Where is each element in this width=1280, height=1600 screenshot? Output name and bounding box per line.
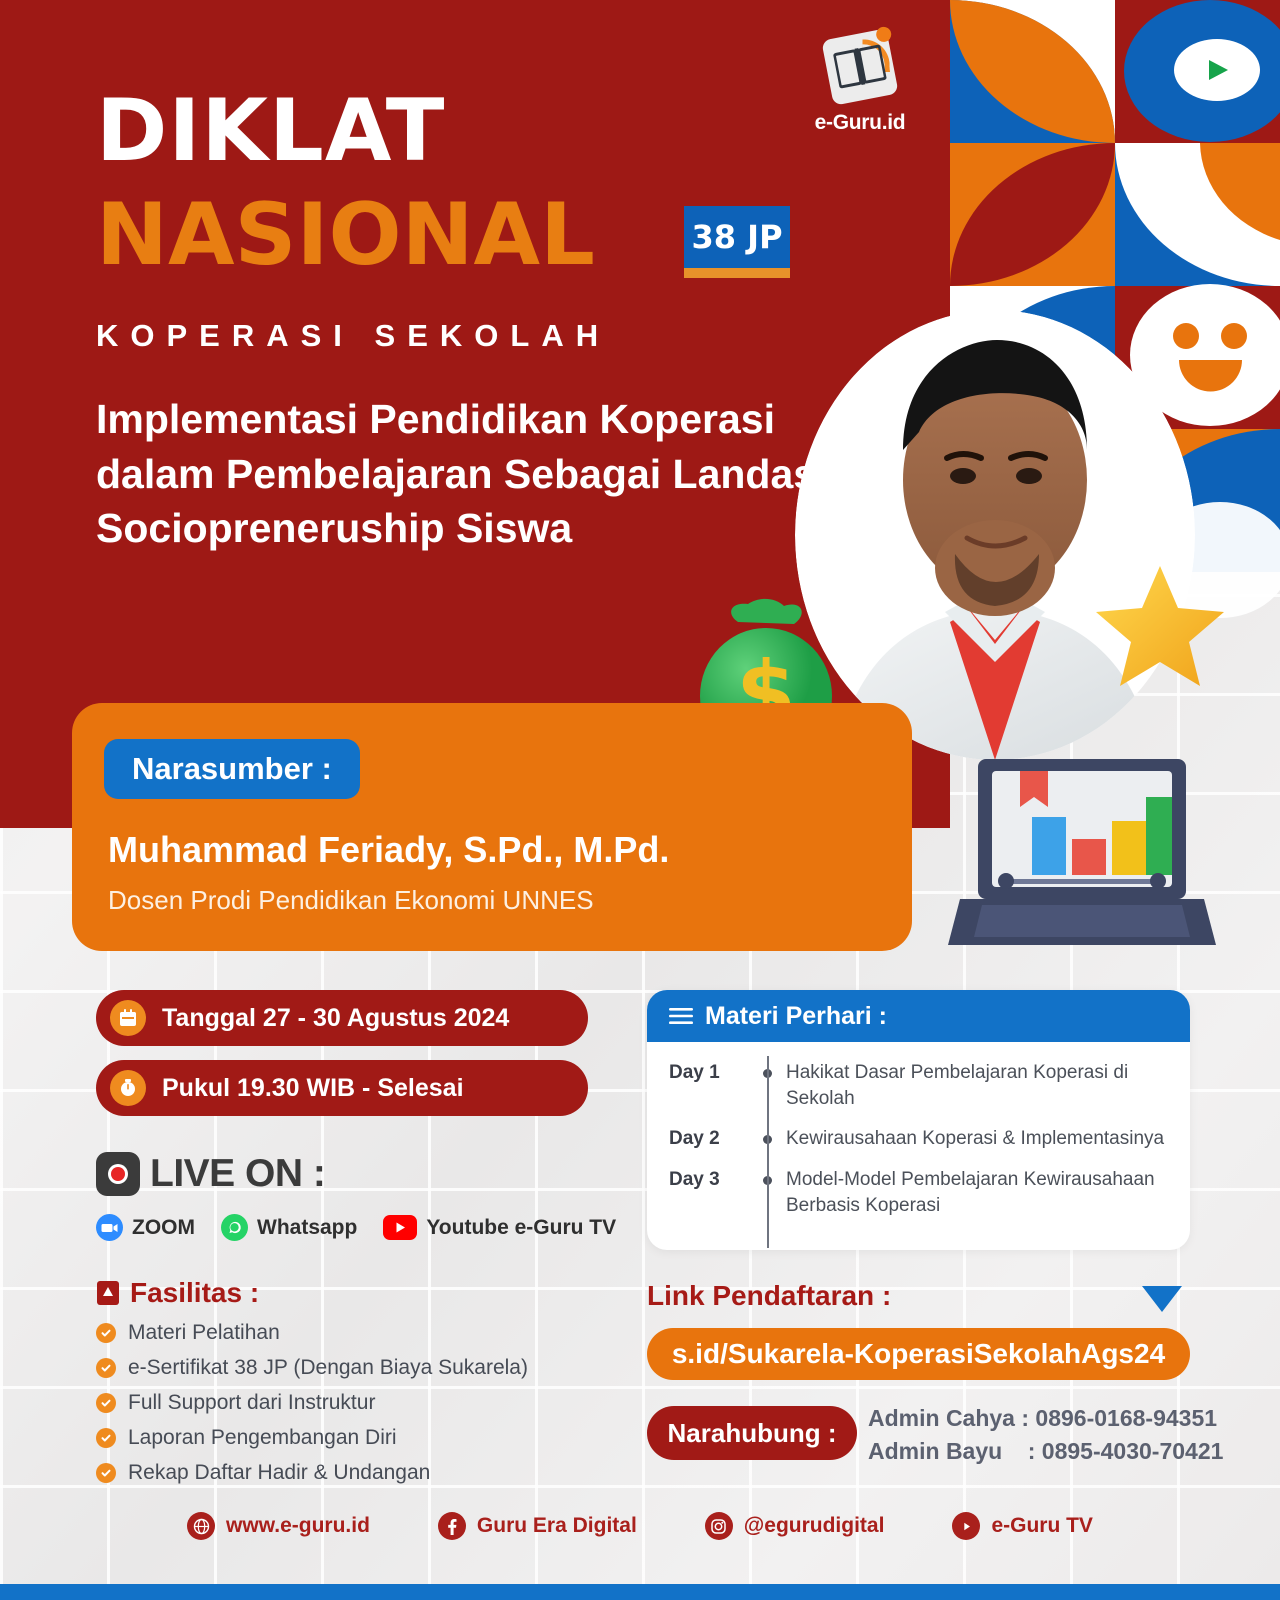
- contact-pill: Narahubung :: [647, 1406, 857, 1460]
- check-icon: [96, 1358, 116, 1378]
- telegram-icon: [1140, 1282, 1184, 1316]
- poster-canvas: e-Guru.id DIKLAT NASIONAL 38 JP KOPERASI…: [0, 0, 1280, 1600]
- bookmark-icon: [96, 1280, 120, 1306]
- day-text: Kewirausahaan Koperasi & Implementasinya: [786, 1126, 1164, 1152]
- facilities-list: Materi Pelatihan e-Sertifikat 38 JP (Den…: [96, 1318, 528, 1493]
- whatsapp-icon: [221, 1214, 248, 1241]
- presenter-name: Muhammad Feriady, S.Pd., M.Pd.: [108, 829, 669, 871]
- day-text: Model-Model Pembelajaran Kewirausahaan B…: [786, 1167, 1172, 1219]
- materi-body: Day 1 Hakikat Dasar Pembelajaran Koperas…: [647, 1042, 1190, 1219]
- facility-text: Laporan Pengembangan Diri: [128, 1426, 397, 1450]
- narasumber-pill: Narasumber :: [104, 739, 360, 799]
- footer-website[interactable]: www.e-guru.id: [187, 1512, 370, 1540]
- materi-header: Materi Perhari :: [647, 990, 1190, 1042]
- materi-day-row: Day 2 Kewirausahaan Koperasi & Implement…: [669, 1126, 1172, 1152]
- check-icon: [96, 1428, 116, 1448]
- materi-day-row: Day 3 Model-Model Pembelajaran Kewirausa…: [669, 1167, 1172, 1219]
- footer-social-bar: www.e-guru.id Guru Era Digital @egurudig…: [0, 1498, 1280, 1554]
- time-text: Pukul 19.30 WIB - Selesai: [162, 1074, 464, 1103]
- jp-badge: 38 JP: [684, 206, 790, 268]
- speaker-portrait: [795, 310, 1195, 760]
- channel-label: Whatsapp: [257, 1216, 357, 1240]
- day-label: Day 1: [669, 1060, 751, 1084]
- footer-facebook[interactable]: Guru Era Digital: [438, 1512, 637, 1540]
- time-pill: Pukul 19.30 WIB - Selesai: [96, 1060, 588, 1116]
- check-icon: [96, 1393, 116, 1413]
- brand-logo: e-Guru.id: [800, 34, 920, 154]
- check-icon: [96, 1323, 116, 1343]
- check-icon: [96, 1463, 116, 1483]
- youtube-icon: [383, 1215, 417, 1240]
- facebook-icon: [438, 1512, 466, 1540]
- instagram-icon: [705, 1512, 733, 1540]
- footer-label: @egurudigital: [744, 1514, 885, 1538]
- materi-title: Materi Perhari :: [705, 1002, 887, 1031]
- materi-day-row: Day 1 Hakikat Dasar Pembelajaran Koperas…: [669, 1060, 1172, 1112]
- footer-youtube[interactable]: e-Guru TV: [952, 1512, 1093, 1540]
- footer-label: Guru Era Digital: [477, 1514, 637, 1538]
- bottom-accent-bar: [0, 1584, 1280, 1600]
- facility-item: Laporan Pengembangan Diri: [96, 1423, 528, 1453]
- title-kicker: KOPERASI SEKOLAH: [96, 318, 610, 354]
- facility-text: e-Sertifikat 38 JP (Dengan Biaya Sukarel…: [128, 1356, 528, 1380]
- channel-label: ZOOM: [132, 1216, 195, 1240]
- materi-card: Materi Perhari : Day 1 Hakikat Dasar Pem…: [647, 990, 1190, 1250]
- title-subtitle: Implementasi Pendidikan Koperasi dalam P…: [96, 392, 886, 556]
- date-text: Tanggal 27 - 30 Agustus 2024: [162, 1004, 509, 1033]
- record-icon: [96, 1152, 140, 1196]
- timeline-line: [767, 1056, 769, 1248]
- open-book-icon: [821, 28, 898, 105]
- day-label: Day 2: [669, 1126, 751, 1150]
- presenter-role: Dosen Prodi Pendidikan Ekonomi UNNES: [108, 885, 594, 916]
- channel-whatsapp: Whatsapp: [221, 1214, 357, 1241]
- channel-youtube: Youtube e-Guru TV: [383, 1215, 616, 1240]
- footer-instagram[interactable]: @egurudigital: [705, 1512, 885, 1540]
- zoom-icon: [96, 1214, 123, 1241]
- channel-label: Youtube e-Guru TV: [426, 1216, 616, 1240]
- footer-label: e-Guru TV: [991, 1514, 1093, 1538]
- live-on-heading: LIVE ON :: [96, 1152, 325, 1196]
- youtube-play-icon: [952, 1512, 980, 1540]
- contact-admins: Admin Cahya : 0896-0168-94351 Admin Bayu…: [868, 1402, 1223, 1467]
- calendar-icon: [110, 1000, 146, 1036]
- presenter-card: Narasumber : Muhammad Feriady, S.Pd., M.…: [72, 703, 912, 951]
- facilities-title: Fasilitas :: [130, 1277, 259, 1309]
- facility-text: Rekap Daftar Hadir & Undangan: [128, 1461, 430, 1485]
- day-text: Hakikat Dasar Pembelajaran Koperasi di S…: [786, 1060, 1172, 1112]
- facility-text: Materi Pelatihan: [128, 1321, 280, 1345]
- title-diklat: DIKLAT: [96, 88, 445, 174]
- globe-icon: [187, 1512, 215, 1540]
- date-pill: Tanggal 27 - 30 Agustus 2024: [96, 990, 588, 1046]
- registration-heading: Link Pendaftaran :: [647, 1280, 891, 1312]
- facility-item: Full Support dari Instruktur: [96, 1388, 528, 1418]
- hamburger-icon: [669, 1006, 693, 1026]
- facility-item: Rekap Daftar Hadir & Undangan: [96, 1458, 528, 1488]
- facility-text: Full Support dari Instruktur: [128, 1391, 375, 1415]
- clock-icon: [110, 1070, 146, 1106]
- channel-zoom: ZOOM: [96, 1214, 195, 1241]
- day-label: Day 3: [669, 1167, 751, 1191]
- laptop-chart-3d-icon: [940, 755, 1220, 955]
- facility-item: e-Sertifikat 38 JP (Dengan Biaya Sukarel…: [96, 1353, 528, 1383]
- registration-link-button[interactable]: s.id/Sukarela-KoperasiSekolahAgs24: [647, 1328, 1190, 1380]
- title-nasional: NASIONAL: [96, 192, 595, 278]
- book-glyph-icon: [833, 44, 887, 90]
- facilities-heading: Fasilitas :: [96, 1277, 259, 1309]
- live-channels: ZOOM Whatsapp Youtube e-Guru TV: [96, 1214, 616, 1241]
- facility-item: Materi Pelatihan: [96, 1318, 528, 1348]
- footer-label: www.e-guru.id: [226, 1514, 370, 1538]
- star-3d-icon: [1090, 560, 1230, 690]
- jp-badge-underline: [684, 268, 790, 278]
- brand-name: e-Guru.id: [800, 111, 920, 135]
- live-on-label: LIVE ON :: [150, 1152, 325, 1196]
